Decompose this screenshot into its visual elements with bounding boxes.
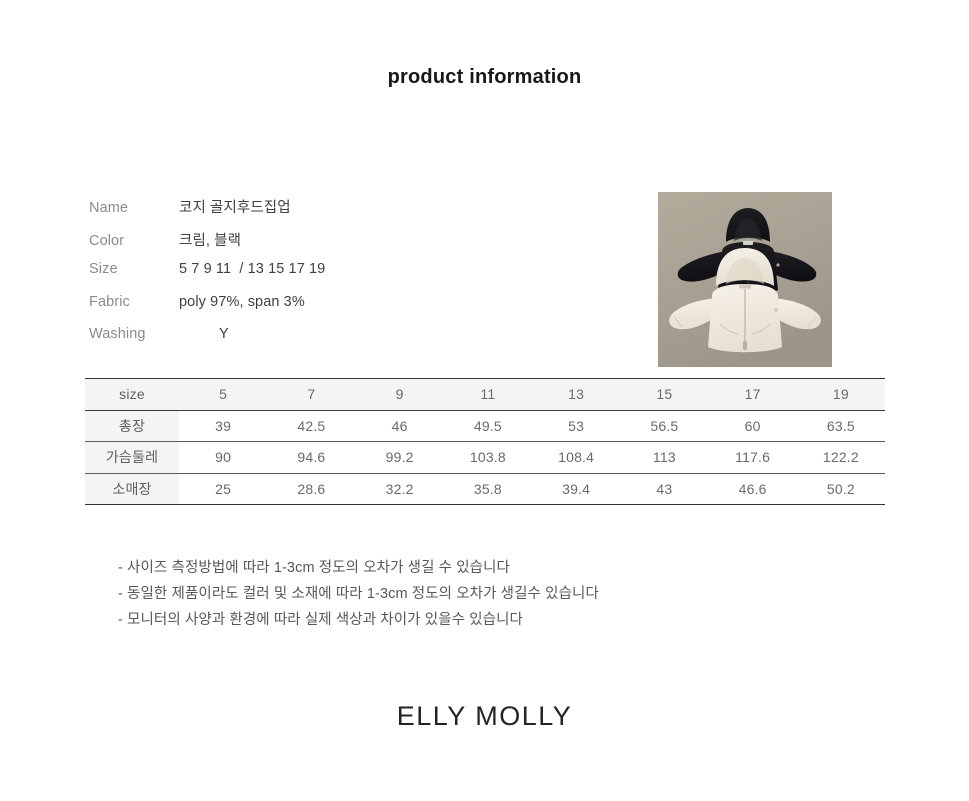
brand-name: ELLY MOLLY bbox=[0, 701, 969, 732]
info-row-name: Name 코지 골지후드집업 bbox=[89, 196, 609, 229]
size-table-cell: 108.4 bbox=[532, 442, 620, 474]
info-value-fabric: poly 97%, span 3% bbox=[179, 294, 305, 310]
size-table-cell: 46 bbox=[356, 410, 444, 442]
info-label-fabric: Fabric bbox=[89, 294, 179, 310]
info-row-washing: Washing Y bbox=[89, 326, 609, 359]
size-table-cell: 39 bbox=[179, 410, 267, 442]
size-table-cell: 53 bbox=[532, 410, 620, 442]
size-table-row-label: 가슴둘레 bbox=[85, 442, 179, 474]
info-value-name: 코지 골지후드집업 bbox=[179, 196, 291, 217]
info-label-name: Name bbox=[89, 200, 179, 216]
size-table-cell: 103.8 bbox=[444, 442, 532, 474]
size-table-cell: 50.2 bbox=[797, 473, 885, 505]
size-table-header-cell: 17 bbox=[709, 379, 797, 411]
note-line: - 사이즈 측정방법에 따라 1-3cm 정도의 오차가 생길 수 있습니다 bbox=[118, 555, 878, 581]
size-table-cell: 60 bbox=[709, 410, 797, 442]
page-title: product information bbox=[0, 66, 969, 89]
product-photo-image bbox=[658, 192, 832, 367]
size-table-cell: 99.2 bbox=[356, 442, 444, 474]
size-table-cell: 113 bbox=[620, 442, 708, 474]
note-line: - 모니터의 사양과 환경에 따라 실제 색상과 차이가 있을수 있습니다 bbox=[118, 607, 878, 633]
size-table-header-cell: 19 bbox=[797, 379, 885, 411]
size-table-cell: 46.6 bbox=[709, 473, 797, 505]
size-table-cell: 39.4 bbox=[532, 473, 620, 505]
table-row: 가슴둘레 90 94.6 99.2 103.8 108.4 113 117.6 … bbox=[85, 442, 885, 474]
size-table-header-cell: 9 bbox=[356, 379, 444, 411]
note-line: - 동일한 제품이라도 컬러 및 소재에 따라 1-3cm 정도의 오차가 생길… bbox=[118, 581, 878, 607]
product-photo bbox=[658, 192, 832, 367]
size-table-header-cell: 15 bbox=[620, 379, 708, 411]
size-table-header-cell: 7 bbox=[267, 379, 355, 411]
size-table-header-cell: 13 bbox=[532, 379, 620, 411]
size-table-cell: 49.5 bbox=[444, 410, 532, 442]
info-value-washing: Y bbox=[179, 326, 229, 342]
size-table-cell: 122.2 bbox=[797, 442, 885, 474]
info-row-color: Color 크림, 블랙 bbox=[89, 229, 609, 262]
info-label-washing: Washing bbox=[89, 326, 179, 342]
size-table-cell: 25 bbox=[179, 473, 267, 505]
size-table-cell: 28.6 bbox=[267, 473, 355, 505]
size-table-cell: 117.6 bbox=[709, 442, 797, 474]
product-info-block: Name 코지 골지후드집업 Color 크림, 블랙 Size 5 7 9 1… bbox=[89, 196, 609, 359]
size-table-header-cell: 5 bbox=[179, 379, 267, 411]
table-row: 소매장 25 28.6 32.2 35.8 39.4 43 46.6 50.2 bbox=[85, 473, 885, 505]
info-value-size: 5 7 9 11 / 13 15 17 19 bbox=[179, 261, 325, 277]
info-value-color: 크림, 블랙 bbox=[179, 229, 241, 250]
size-table-cell: 56.5 bbox=[620, 410, 708, 442]
size-table-header-cell: 11 bbox=[444, 379, 532, 411]
info-row-size: Size 5 7 9 11 / 13 15 17 19 bbox=[89, 261, 609, 294]
size-table-header-cell: size bbox=[85, 379, 179, 411]
info-row-fabric: Fabric poly 97%, span 3% bbox=[89, 294, 609, 327]
notes-block: - 사이즈 측정방법에 따라 1-3cm 정도의 오차가 생길 수 있습니다 -… bbox=[118, 555, 878, 633]
size-table-row-label: 총장 bbox=[85, 410, 179, 442]
size-table-cell: 35.8 bbox=[444, 473, 532, 505]
size-table-cell: 94.6 bbox=[267, 442, 355, 474]
info-label-color: Color bbox=[89, 233, 179, 249]
info-label-size: Size bbox=[89, 261, 179, 277]
size-table-cell: 90 bbox=[179, 442, 267, 474]
size-table: size 5 7 9 11 13 15 17 19 총장 39 42.5 46 … bbox=[85, 378, 885, 505]
size-table-cell: 32.2 bbox=[356, 473, 444, 505]
size-table-cell: 42.5 bbox=[267, 410, 355, 442]
size-table-cell: 43 bbox=[620, 473, 708, 505]
size-table-row-label: 소매장 bbox=[85, 473, 179, 505]
size-table-container: size 5 7 9 11 13 15 17 19 총장 39 42.5 46 … bbox=[85, 378, 885, 505]
size-table-header-row: size 5 7 9 11 13 15 17 19 bbox=[85, 379, 885, 411]
size-table-cell: 63.5 bbox=[797, 410, 885, 442]
table-row: 총장 39 42.5 46 49.5 53 56.5 60 63.5 bbox=[85, 410, 885, 442]
